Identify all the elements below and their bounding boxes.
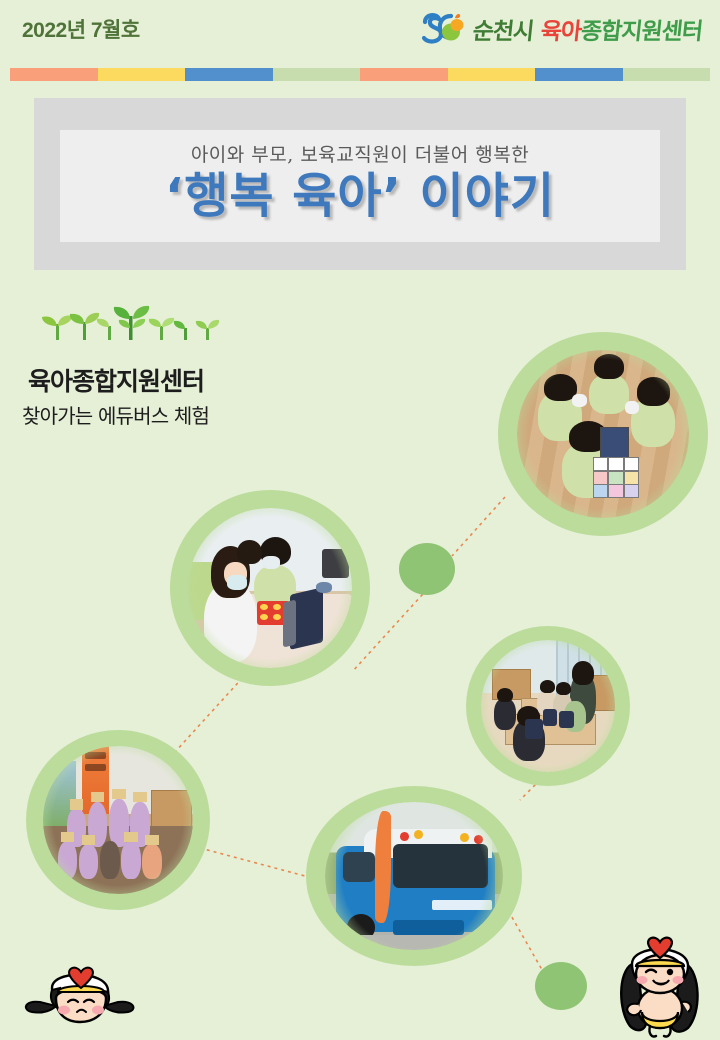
connector-dot-lower	[535, 962, 587, 1010]
photo-children-floor-game	[498, 332, 708, 536]
newsletter-cover-page: 2022년 7월호 순천시 육아종합지원센터 아이와 부모, 보육교직원이 더불…	[0, 0, 720, 1040]
photo-edubus	[306, 786, 522, 966]
photo-collage	[0, 0, 720, 1040]
photo-group-crowns	[26, 730, 210, 910]
mascot-lying-left	[22, 948, 142, 1026]
mascot-waving-right	[608, 930, 712, 1040]
photo-classroom-tablets	[466, 626, 630, 786]
photo-children-tablet-table	[170, 490, 370, 686]
connector-dot-upper	[399, 543, 455, 595]
